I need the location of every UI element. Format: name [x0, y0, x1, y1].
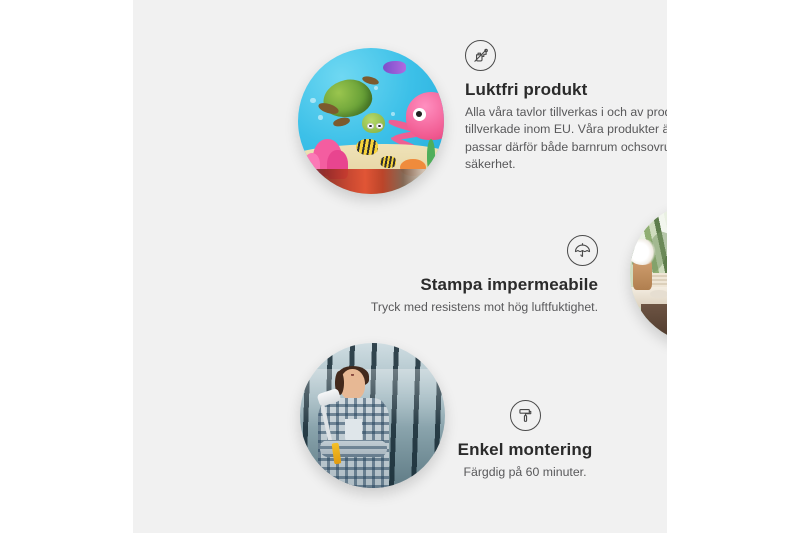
- feature-title: Luktfri produkt: [465, 80, 667, 100]
- soap-dish: [650, 290, 667, 298]
- smile: [351, 374, 354, 375]
- white-flowers: [630, 239, 658, 264]
- turtle-head: [362, 113, 384, 133]
- bubble-icon: [310, 98, 316, 104]
- photo-bottom-strip: [298, 169, 444, 194]
- paint-roller-icon: [510, 400, 541, 431]
- feature-waterproof: Stampa impermeabile Tryck med resistens …: [328, 235, 598, 316]
- feature-title: Enkel montering: [427, 440, 623, 460]
- underwater-sea-turtle-photo: [298, 48, 444, 194]
- sea-turtle: [323, 80, 389, 131]
- umbrella-icon: [567, 235, 598, 266]
- no-fragrance-icon: [465, 40, 496, 71]
- yellow-fish: [380, 156, 396, 168]
- yellow-fish: [356, 139, 378, 155]
- feature-description: Tryck med resistens mot hög luftfuktighe…: [328, 299, 598, 316]
- octopus-eye: [413, 108, 426, 121]
- content-panel: Luktfri produkt Alla våra tavlor tillver…: [133, 0, 667, 533]
- turtle-eye: [367, 123, 374, 129]
- octopus-head: [406, 92, 444, 140]
- drawer-handle: [664, 336, 667, 337]
- vanity-cabinet: [641, 304, 667, 343]
- crossed-arms: [320, 440, 387, 457]
- face: [340, 369, 365, 400]
- painter-woman: [312, 369, 396, 488]
- promo-page: Luktfri produkt Alla våra tavlor tillver…: [0, 0, 800, 533]
- turtle-eye: [376, 123, 383, 129]
- purple-fish: [383, 61, 406, 74]
- painter-forest-photo: [300, 343, 445, 488]
- feature-description: Färgdig på 60 minuter.: [427, 464, 623, 481]
- feature-easy-install: Enkel montering Färgdig på 60 minuter.: [427, 400, 623, 481]
- bathroom-leaf-wallpaper-photo: [630, 203, 667, 343]
- feature-odourless: Luktfri produkt Alla våra tavlor tillver…: [465, 40, 667, 174]
- turtle-fin: [333, 116, 351, 128]
- feature-description: Alla våra tavlor tillverkas i och av pro…: [465, 104, 667, 174]
- feature-title: Stampa impermeabile: [328, 275, 598, 295]
